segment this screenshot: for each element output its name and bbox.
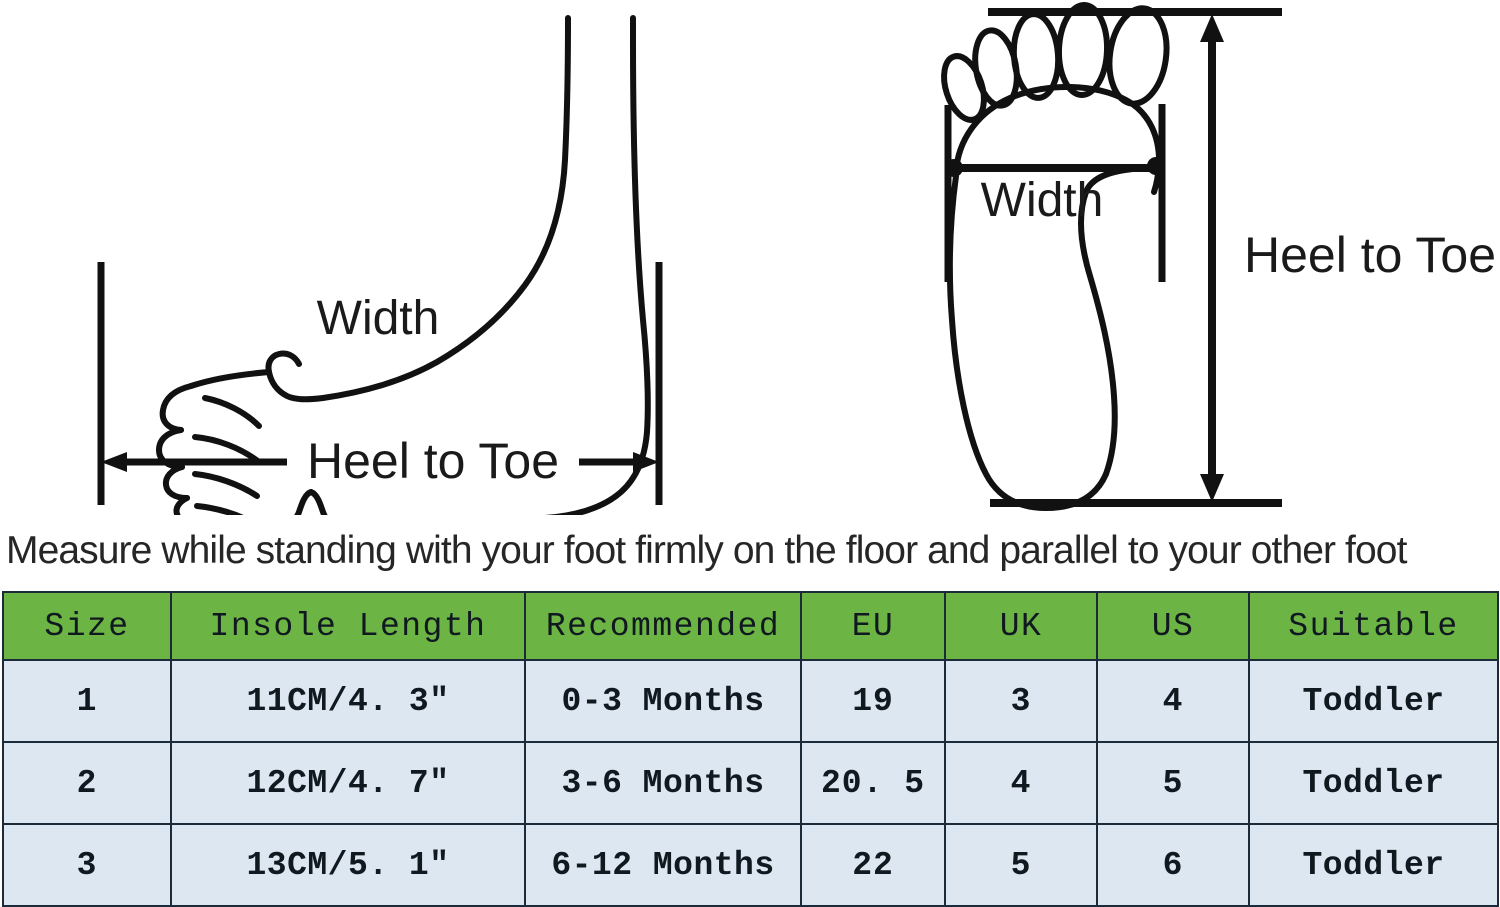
cell-recommended: 6-12 Months [525, 824, 801, 906]
cell-us: 4 [1097, 660, 1249, 742]
top-heel-to-toe-label: Heel to Toe [1244, 227, 1496, 283]
table-row: 1 11CM/4. 3″ 0-3 Months 19 3 4 Toddler [3, 660, 1498, 742]
side-heel-to-toe-label: Heel to Toe [307, 433, 559, 489]
measurement-instruction: Measure while standing with your foot fi… [6, 520, 1500, 582]
cell-uk: 3 [945, 660, 1097, 742]
cell-eu: 22 [801, 824, 945, 906]
cell-eu: 19 [801, 660, 945, 742]
column-header-eu: EU [801, 592, 945, 660]
cell-insole-length: 11CM/4. 3″ [171, 660, 525, 742]
top-width-label: Width [981, 174, 1104, 227]
cell-size: 3 [3, 824, 171, 906]
size-chart-page: Width Heel to Toe [0, 0, 1500, 903]
table-row: 3 13CM/5. 1″ 6-12 Months 22 5 6 Toddler [3, 824, 1498, 906]
cell-suitable: Toddler [1249, 824, 1498, 906]
column-header-size: Size [3, 592, 171, 660]
cell-insole-length: 12CM/4. 7″ [171, 742, 525, 824]
cell-size: 1 [3, 660, 171, 742]
table-row: 2 12CM/4. 7″ 3-6 Months 20. 5 4 5 Toddle… [3, 742, 1498, 824]
measurement-diagrams: Width Heel to Toe [0, 0, 1500, 515]
column-header-us: US [1097, 592, 1249, 660]
cell-us: 5 [1097, 742, 1249, 824]
cell-suitable: Toddler [1249, 660, 1498, 742]
cell-suitable: Toddler [1249, 742, 1498, 824]
cell-us: 6 [1097, 824, 1249, 906]
column-header-insole-length: Insole Length [171, 592, 525, 660]
foot-top-view-diagram: Width Heel to Toe [900, 0, 1500, 515]
column-header-uk: UK [945, 592, 1097, 660]
top-heel-to-toe-dimension [1200, 14, 1224, 502]
cell-recommended: 3-6 Months [525, 742, 801, 824]
cell-size: 2 [3, 742, 171, 824]
table-header-row: Size Insole Length Recommended EU UK US … [3, 592, 1498, 660]
cell-recommended: 0-3 Months [525, 660, 801, 742]
column-header-recommended: Recommended [525, 592, 801, 660]
side-width-label: Width [317, 292, 440, 345]
cell-eu: 20. 5 [801, 742, 945, 824]
cell-insole-length: 13CM/5. 1″ [171, 824, 525, 906]
column-header-suitable: Suitable [1249, 592, 1498, 660]
cell-uk: 5 [945, 824, 1097, 906]
foot-side-view-diagram: Width Heel to Toe [55, 0, 695, 515]
cell-uk: 4 [945, 742, 1097, 824]
foot-top-outline [937, 4, 1173, 508]
size-chart-table: Size Insole Length Recommended EU UK US … [2, 591, 1499, 907]
